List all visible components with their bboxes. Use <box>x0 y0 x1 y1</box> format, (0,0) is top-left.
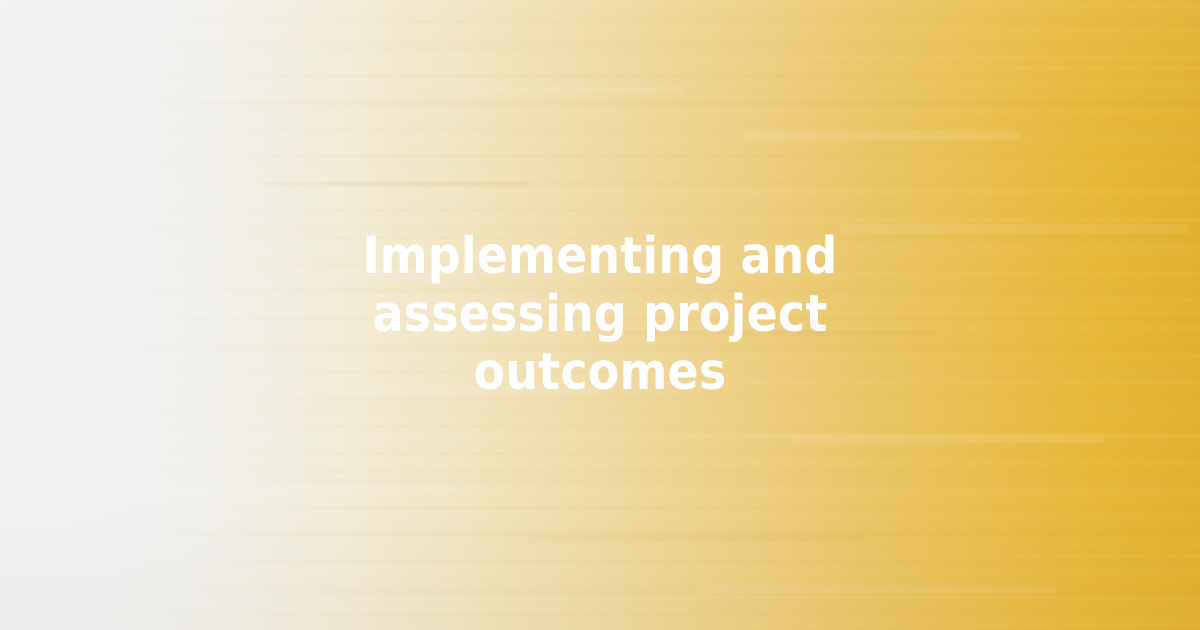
headline-container: Implementing and assessing project outco… <box>0 0 1200 630</box>
page-title: Implementing and assessing project outco… <box>250 228 950 402</box>
hero-banner: Implementing and assessing project outco… <box>0 0 1200 630</box>
